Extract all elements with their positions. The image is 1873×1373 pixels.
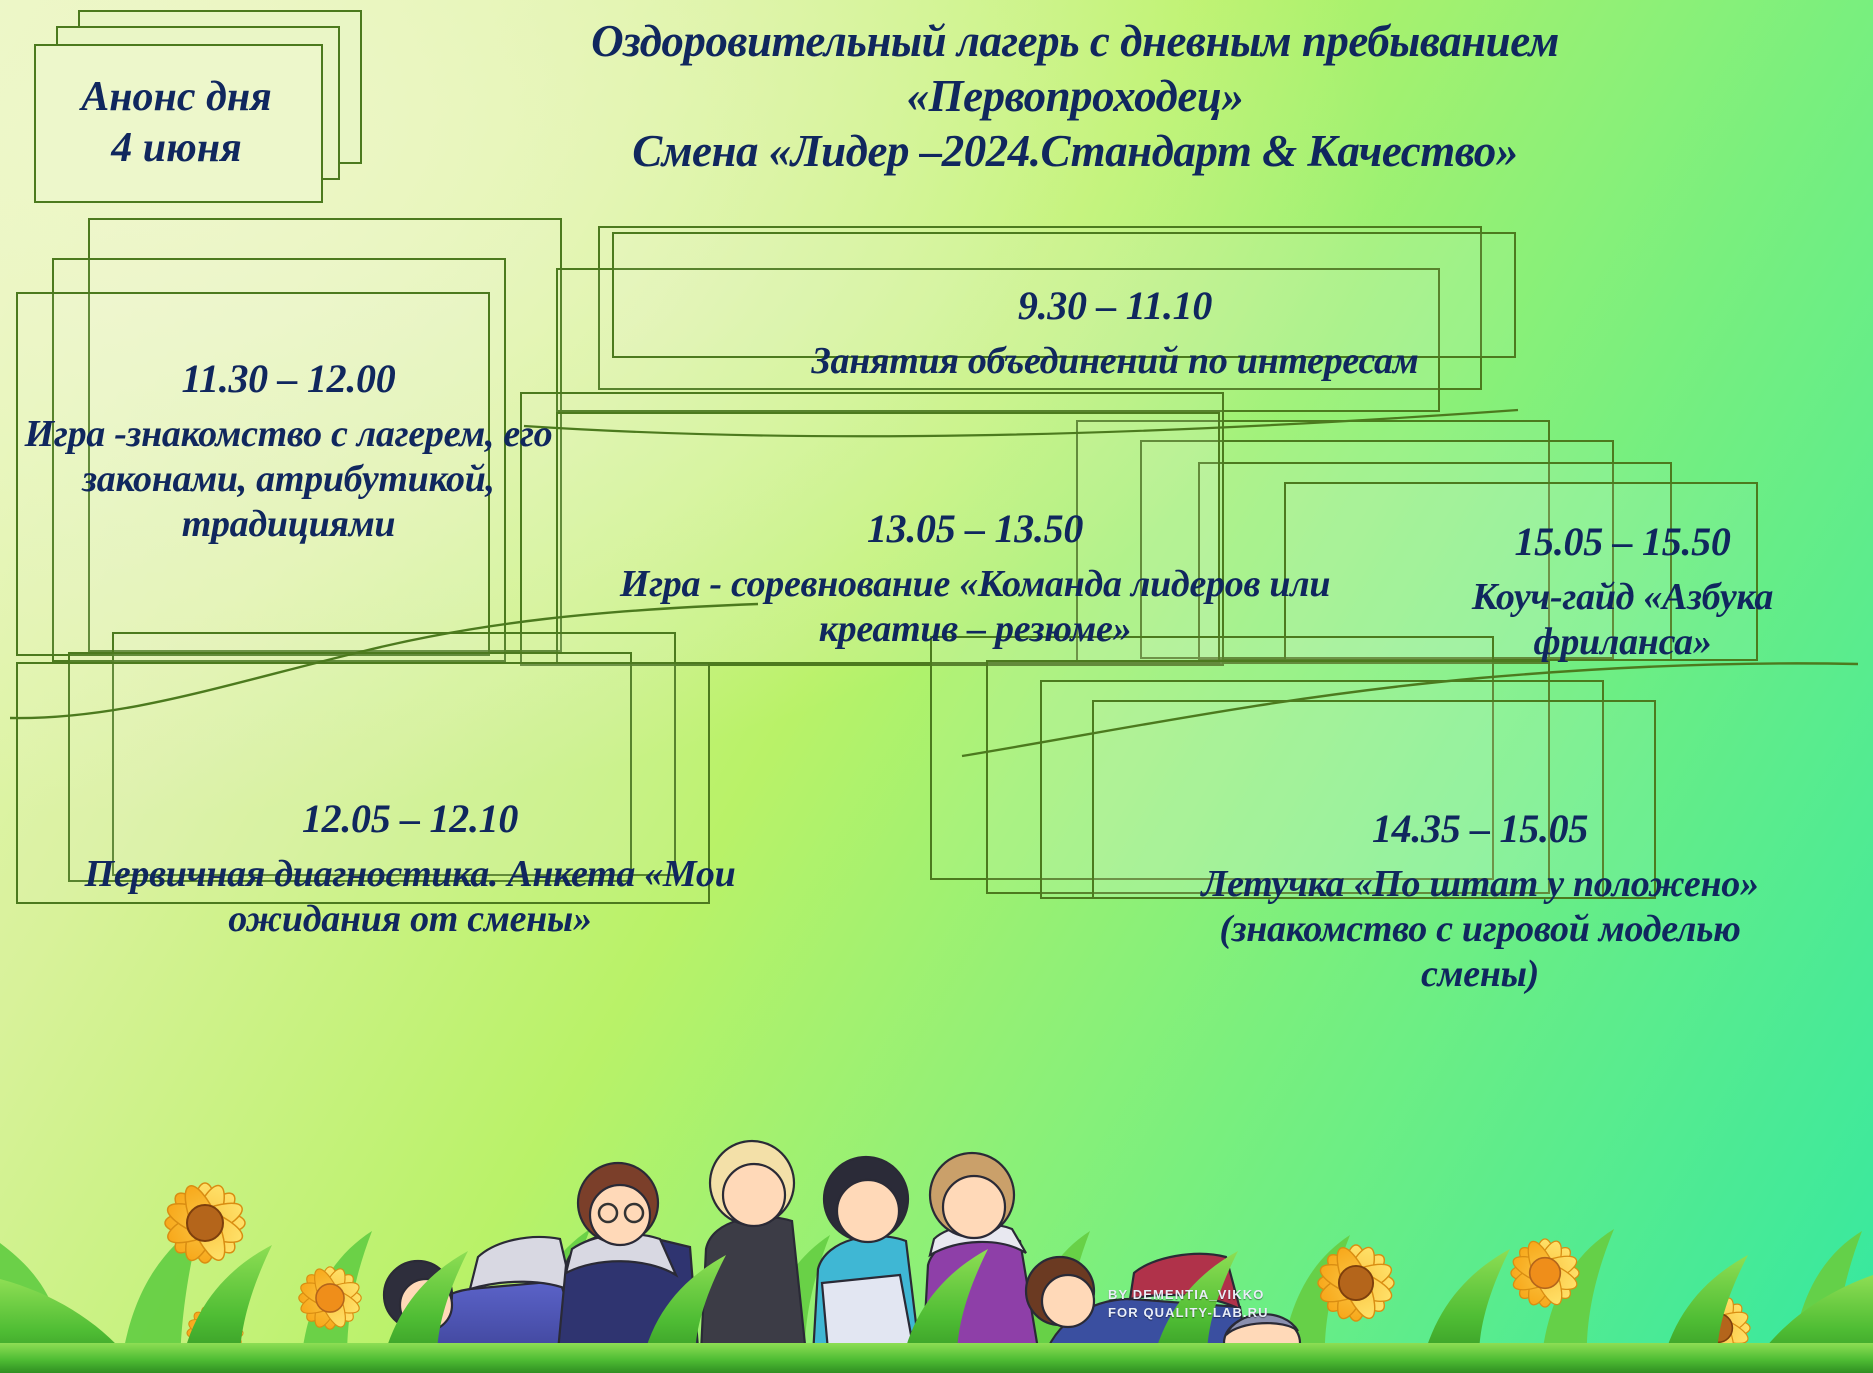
schedule-entry-1505: 15.05 – 15.50 Коуч-гайд «Азбука фриланса… [1410, 518, 1835, 665]
schedule-description: Летучка «По штат у положено» (знакомство… [1180, 862, 1780, 996]
illustration [0, 1043, 1873, 1373]
child-4 [812, 1157, 922, 1373]
schedule-time: 15.05 – 15.50 [1410, 518, 1835, 565]
schedule-description: Игра - соревнование «Команда лидеров или… [610, 562, 1340, 652]
schedule-entry-1305: 13.05 – 13.50 Игра - соревнование «Коман… [610, 505, 1340, 652]
schedule-description: Игра -знакомство с лагерем, его законами… [16, 412, 561, 546]
watermark-source: FOR QUALITY-LAB.RU [1108, 1304, 1269, 1322]
announce-title: Анонс дня [81, 72, 272, 123]
watermark-author: BY DEMENTIA_VIKKO [1108, 1286, 1269, 1304]
schedule-entry-0930: 9.30 – 11.10 Занятия объединений по инте… [700, 282, 1530, 384]
schedule-time: 13.05 – 13.50 [610, 505, 1340, 552]
schedule-time: 9.30 – 11.10 [700, 282, 1530, 329]
schedule-entry-1130: 11.30 – 12.00 Игра -знакомство с лагерем… [16, 355, 561, 547]
poster-header: Оздоровительный лагерь с дневным пребыва… [430, 14, 1720, 179]
poster-canvas: Анонс дня 4 июня Оздоровительный лагерь … [0, 0, 1873, 1373]
schedule-time: 14.35 – 15.05 [1180, 805, 1780, 852]
schedule-description: Коуч-гайд «Азбука фриланса» [1410, 575, 1835, 665]
announce-label: Анонс дня 4 июня [34, 48, 319, 198]
watermark: BY DEMENTIA_VIKKO FOR QUALITY-LAB.RU [1108, 1286, 1269, 1321]
header-line-shift: Смена «Лидер –2024.Стандарт & Качество» [430, 124, 1720, 179]
schedule-time: 12.05 – 12.10 [10, 795, 810, 842]
header-line-camp-name: «Первопроходец» [430, 69, 1720, 124]
announce-card: Анонс дня 4 июня [20, 6, 370, 206]
schedule-entry-1205: 12.05 – 12.10 Первичная диагностика. Анк… [10, 795, 810, 942]
header-line-camp: Оздоровительный лагерь с дневным пребыва… [430, 14, 1720, 69]
schedule-time: 11.30 – 12.00 [16, 355, 561, 402]
illustration-svg [0, 1043, 1873, 1373]
schedule-description: Первичная диагностика. Анкета «Мои ожида… [10, 852, 810, 942]
announce-date: 4 июня [111, 123, 241, 174]
schedule-entry-1435: 14.35 – 15.05 Летучка «По штат у положен… [1180, 805, 1780, 997]
child-3 [700, 1141, 808, 1373]
schedule-description: Занятия объединений по интересам [700, 339, 1530, 384]
